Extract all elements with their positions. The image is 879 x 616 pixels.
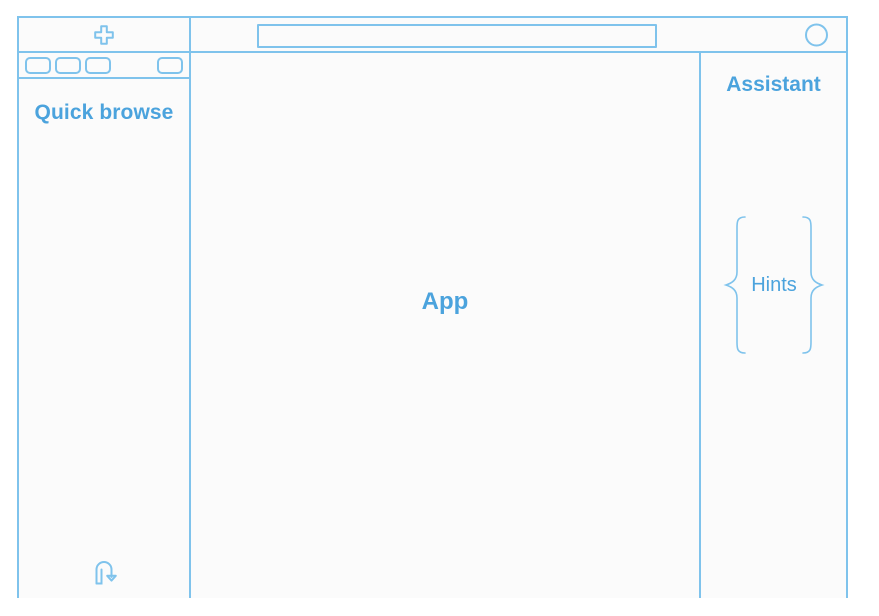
avatar[interactable] <box>805 23 828 46</box>
wireframe-window: Quick browse App Assistant <box>17 16 848 598</box>
sidebar-toolbar-button-1[interactable] <box>25 57 51 74</box>
sidebar: Quick browse <box>19 53 191 598</box>
plus-icon[interactable] <box>93 24 115 46</box>
top-bar-left-section <box>19 18 191 51</box>
assistant-title: Assistant <box>701 73 846 97</box>
sidebar-toolbar <box>19 53 189 79</box>
hints-label: Hints <box>749 274 799 297</box>
right-curly-brace-icon <box>799 214 825 356</box>
app-canvas[interactable]: App <box>191 53 701 598</box>
app-label: App <box>191 29 699 574</box>
assistant-panel: Assistant Hints <box>701 53 846 598</box>
sidebar-title: Quick browse <box>19 99 189 127</box>
sidebar-toolbar-button-4[interactable] <box>157 57 183 74</box>
window-body: Quick browse App Assistant <box>19 53 846 598</box>
sidebar-toolbar-button-3[interactable] <box>85 57 111 74</box>
sidebar-toolbar-button-2[interactable] <box>55 57 81 74</box>
u-turn-arrow-icon[interactable] <box>91 558 121 586</box>
left-curly-brace-icon <box>723 214 749 356</box>
hints-group: Hints <box>709 211 839 359</box>
